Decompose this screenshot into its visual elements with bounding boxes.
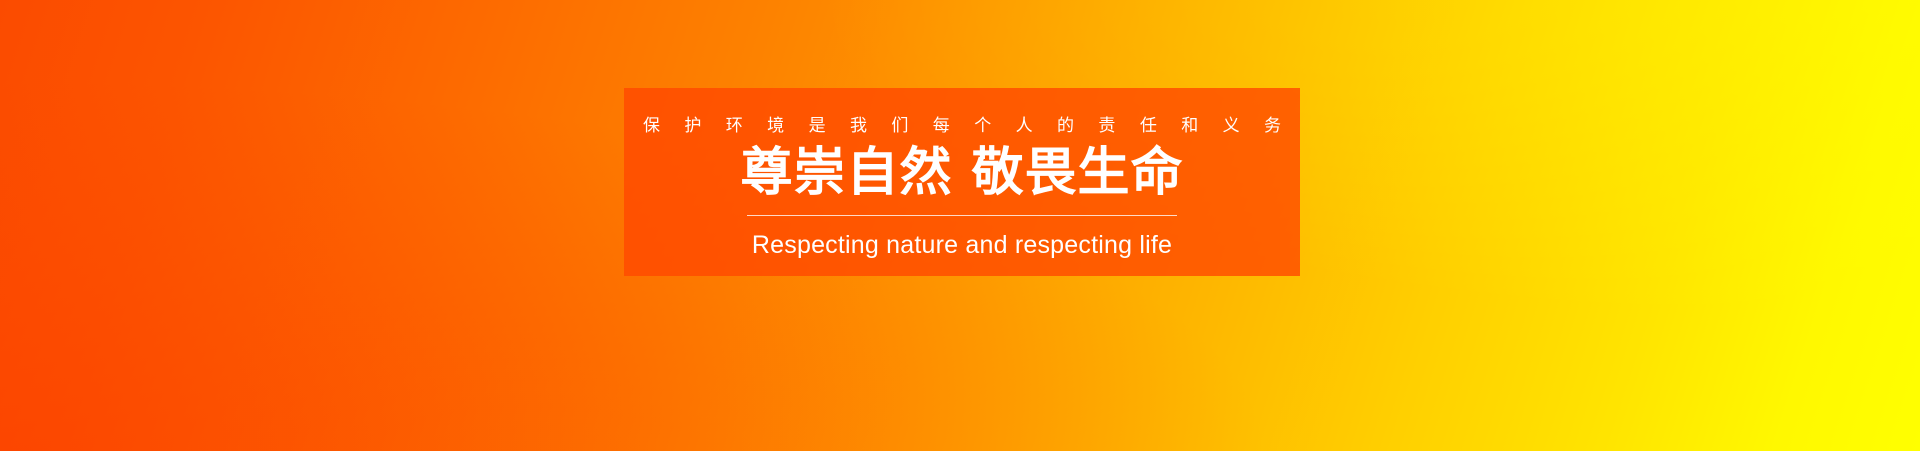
- slogan-panel: 保 护 环 境 是 我 们 每 个 人 的 责 任 和 义 务 尊崇自然 敬畏生…: [624, 88, 1300, 276]
- environment-slogan-banner: 保 护 环 境 是 我 们 每 个 人 的 责 任 和 义 务 尊崇自然 敬畏生…: [0, 0, 1920, 451]
- divider-rule: [747, 215, 1177, 216]
- subline-text: Respecting nature and respecting life: [752, 233, 1172, 258]
- headline-text: 尊崇自然 敬畏生命: [740, 147, 1183, 199]
- eyebrow-text: 保 护 环 境 是 我 们 每 个 人 的 责 任 和 义 务: [633, 118, 1290, 135]
